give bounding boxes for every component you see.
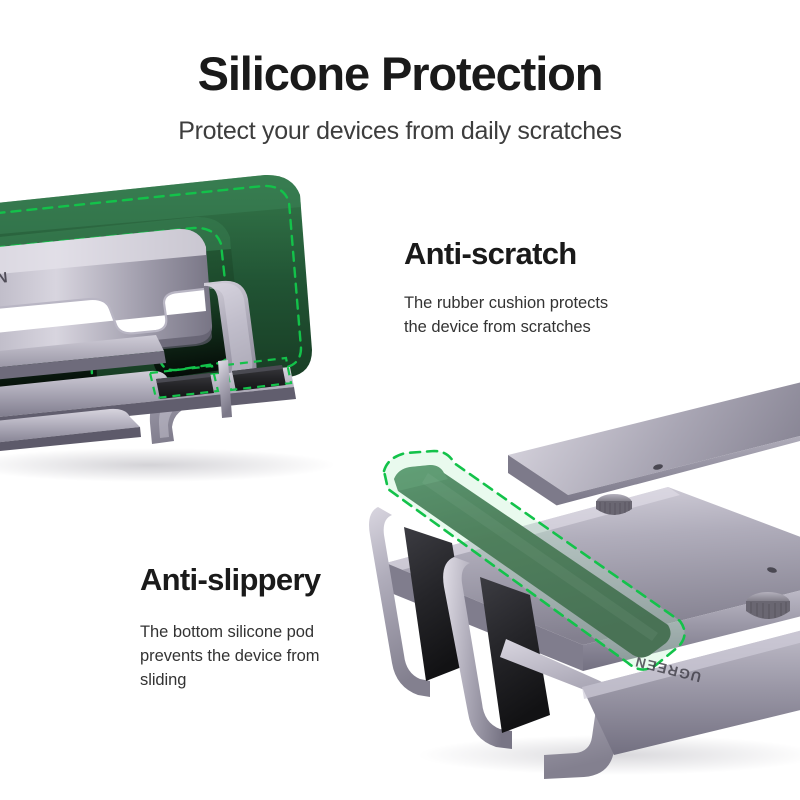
feature-body-line: The bottom silicone pod <box>140 620 319 644</box>
feature-body-line: the device from scratches <box>404 315 608 339</box>
feature-heading-anti-slippery: Anti-slippery <box>140 561 320 599</box>
product-image-laptop-stand-upright: UGREEN <box>0 165 400 485</box>
page-subtitle: Protect your devices from daily scratche… <box>0 114 800 148</box>
feature-body-line: prevents the device from <box>140 644 319 668</box>
product-feature-graphic: Silicone Protection Protect your devices… <box>0 0 800 800</box>
feature-heading-anti-scratch: Anti-scratch <box>404 235 576 273</box>
feature-body-anti-slippery: The bottom silicone pod prevents the dev… <box>140 620 319 692</box>
feature-body-line: sliding <box>140 668 319 692</box>
page-title: Silicone Protection <box>0 46 800 102</box>
thumbscrew-1[interactable] <box>596 494 632 515</box>
feature-body-line: The rubber cushion protects <box>404 291 608 315</box>
thumbscrew-2[interactable] <box>746 592 790 619</box>
feature-body-anti-scratch: The rubber cushion protects the device f… <box>404 291 608 339</box>
product-shadow <box>0 448 335 482</box>
product-image-laptop-stand-inverted: UGREEN <box>368 395 800 795</box>
